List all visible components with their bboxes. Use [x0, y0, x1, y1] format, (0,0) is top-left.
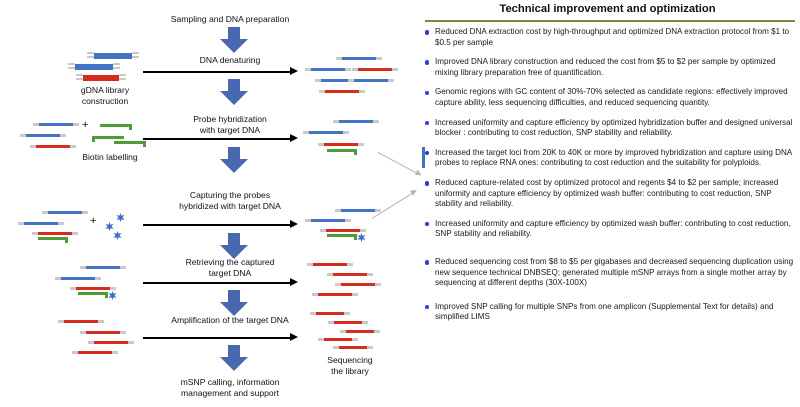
dna-fragment: [336, 57, 382, 60]
biotin-probe: [38, 237, 68, 245]
streptavidin-bead-icon: [357, 233, 366, 242]
step-label-capturing: Capturing the probes hybridized with tar…: [140, 190, 320, 211]
dna-fragment: [68, 63, 120, 69]
dna-fragment: [348, 79, 394, 82]
dna-fragment: [305, 68, 351, 71]
list-item: Increased uniformity and capture efficie…: [425, 118, 797, 139]
down-arrow-3: [220, 147, 248, 173]
list-item-text: Reduced capture-related cost by optimize…: [435, 178, 797, 210]
dna-fragment: [318, 338, 358, 341]
figure-root: Sampling and DNA preparation DNA denatur…: [0, 0, 800, 407]
dna-fragment: [58, 320, 104, 323]
dna-fragment: [312, 293, 358, 296]
list-item-text: Reduced DNA extraction cost by high-thro…: [435, 27, 797, 48]
biotin-probe: [114, 141, 146, 149]
list-item-text: Increased uniformity and capture efficie…: [435, 118, 797, 139]
horizontal-arrow-2: [143, 138, 291, 140]
list-item: Increased uniformity and capture efficie…: [425, 219, 797, 240]
biotin-probe: [327, 234, 357, 242]
horizontal-arrow-5: [143, 337, 291, 339]
bullet-dot-icon: [425, 121, 435, 125]
list-item-highlighted: Increased the target loci from 20K to 40…: [425, 148, 797, 169]
bullet-dot-icon: [425, 30, 435, 34]
caption-sequencing-library: Sequencing the library: [295, 355, 405, 376]
improvements-panel: Technical improvement and optimization R…: [415, 0, 800, 407]
list-item-text: Genomic regions with GC content of 30%-7…: [435, 87, 797, 108]
biotin-probe: [78, 292, 108, 300]
dna-fragment: [327, 273, 373, 276]
list-item-text: Increased uniformity and capture efficie…: [435, 219, 797, 240]
step-label-msnp: mSNP calling, information management and…: [140, 377, 320, 398]
list-item-text: Increased the target loci from 20K to 40…: [435, 148, 797, 169]
down-arrow-2: [220, 79, 248, 105]
list-item: Reduced sequencing cost from $8 to $5 pe…: [425, 257, 797, 289]
dna-fragment: [320, 229, 366, 232]
down-arrow-4: [220, 233, 248, 259]
dna-fragment: [18, 222, 64, 225]
biotin-probe: [100, 124, 132, 132]
bullet-dot-icon: [425, 91, 435, 95]
step-label-sampling: Sampling and DNA preparation: [140, 14, 320, 25]
connector-arrow-lower: [372, 191, 417, 219]
step-label-hybridization: Probe hybridization with target DNA: [155, 114, 305, 135]
dna-fragment: [76, 74, 126, 80]
dna-fragment: [333, 346, 373, 349]
workflow-panel: Sampling and DNA preparation DNA denatur…: [0, 0, 415, 407]
biotin-probe: [327, 149, 357, 157]
horizontal-arrow-1: [143, 71, 291, 73]
dna-fragment: [33, 123, 79, 126]
streptavidin-bead-icon: [105, 222, 114, 231]
plus-sign: +: [82, 120, 88, 131]
plus-sign: +: [90, 216, 96, 227]
streptavidin-bead-icon: [116, 213, 125, 222]
list-item: Improved SNP calling for multiple SNPs f…: [425, 302, 797, 323]
dna-fragment: [319, 90, 365, 93]
panel-divider: [425, 20, 795, 22]
dna-fragment: [305, 219, 351, 222]
horizontal-arrow-3: [143, 224, 291, 226]
list-item: Reduced capture-related cost by optimize…: [425, 178, 797, 210]
bullet-dot-icon: [425, 181, 435, 185]
dna-fragment: [42, 211, 88, 214]
list-item: Improved DNA library construction and re…: [425, 57, 797, 78]
dna-fragment: [72, 351, 118, 354]
bullet-dot-icon: [425, 151, 435, 155]
bullet-dot-icon: [425, 222, 435, 226]
down-arrow-1: [220, 27, 248, 53]
dna-fragment: [32, 232, 78, 235]
list-item: Reduced DNA extraction cost by high-thro…: [425, 27, 797, 48]
dna-fragment: [303, 131, 349, 134]
list-item: Genomic regions with GC content of 30%-7…: [425, 87, 797, 108]
dna-fragment: [310, 312, 350, 315]
panel-title: Technical improvement and optimization: [415, 3, 800, 15]
dna-fragment: [30, 145, 76, 148]
dna-fragment: [352, 68, 398, 71]
streptavidin-bead-icon: [108, 291, 117, 300]
dna-fragment: [87, 52, 139, 58]
dna-fragment: [80, 331, 126, 334]
bullet-list: Reduced DNA extraction cost by high-thro…: [425, 27, 797, 332]
bullet-dot-icon: [425, 60, 435, 64]
step-label-amplification: Amplification of the target DNA: [140, 315, 320, 326]
step-label-retrieving: Retrieving the captured target DNA: [155, 257, 305, 278]
horizontal-arrow-4: [143, 282, 291, 284]
bullet-dot-icon: [425, 260, 435, 264]
dna-fragment: [55, 277, 101, 280]
dna-fragment: [335, 283, 381, 286]
dna-fragment: [333, 120, 379, 123]
dna-fragment: [335, 209, 381, 212]
caption-biotin-labelling: Biotin labelling: [55, 152, 165, 163]
dna-fragment: [70, 287, 116, 290]
dna-fragment: [340, 330, 380, 333]
streptavidin-bead-icon: [113, 231, 122, 240]
caption-gdna-library: gDNA library construction: [50, 85, 160, 106]
list-item-text: Improved SNP calling for multiple SNPs f…: [435, 302, 797, 323]
step-label-denaturing: DNA denaturing: [160, 55, 300, 66]
dna-fragment: [328, 321, 368, 324]
dna-fragment: [307, 263, 353, 266]
list-item-text: Improved DNA library construction and re…: [435, 57, 797, 78]
dna-fragment: [80, 266, 126, 269]
dna-fragment: [318, 143, 364, 146]
down-arrow-6: [220, 345, 248, 371]
dna-fragment: [20, 134, 66, 137]
bullet-dot-icon: [425, 305, 435, 309]
list-item-text: Reduced sequencing cost from $8 to $5 pe…: [435, 257, 797, 289]
dna-fragment: [88, 341, 134, 344]
down-arrow-5: [220, 290, 248, 316]
